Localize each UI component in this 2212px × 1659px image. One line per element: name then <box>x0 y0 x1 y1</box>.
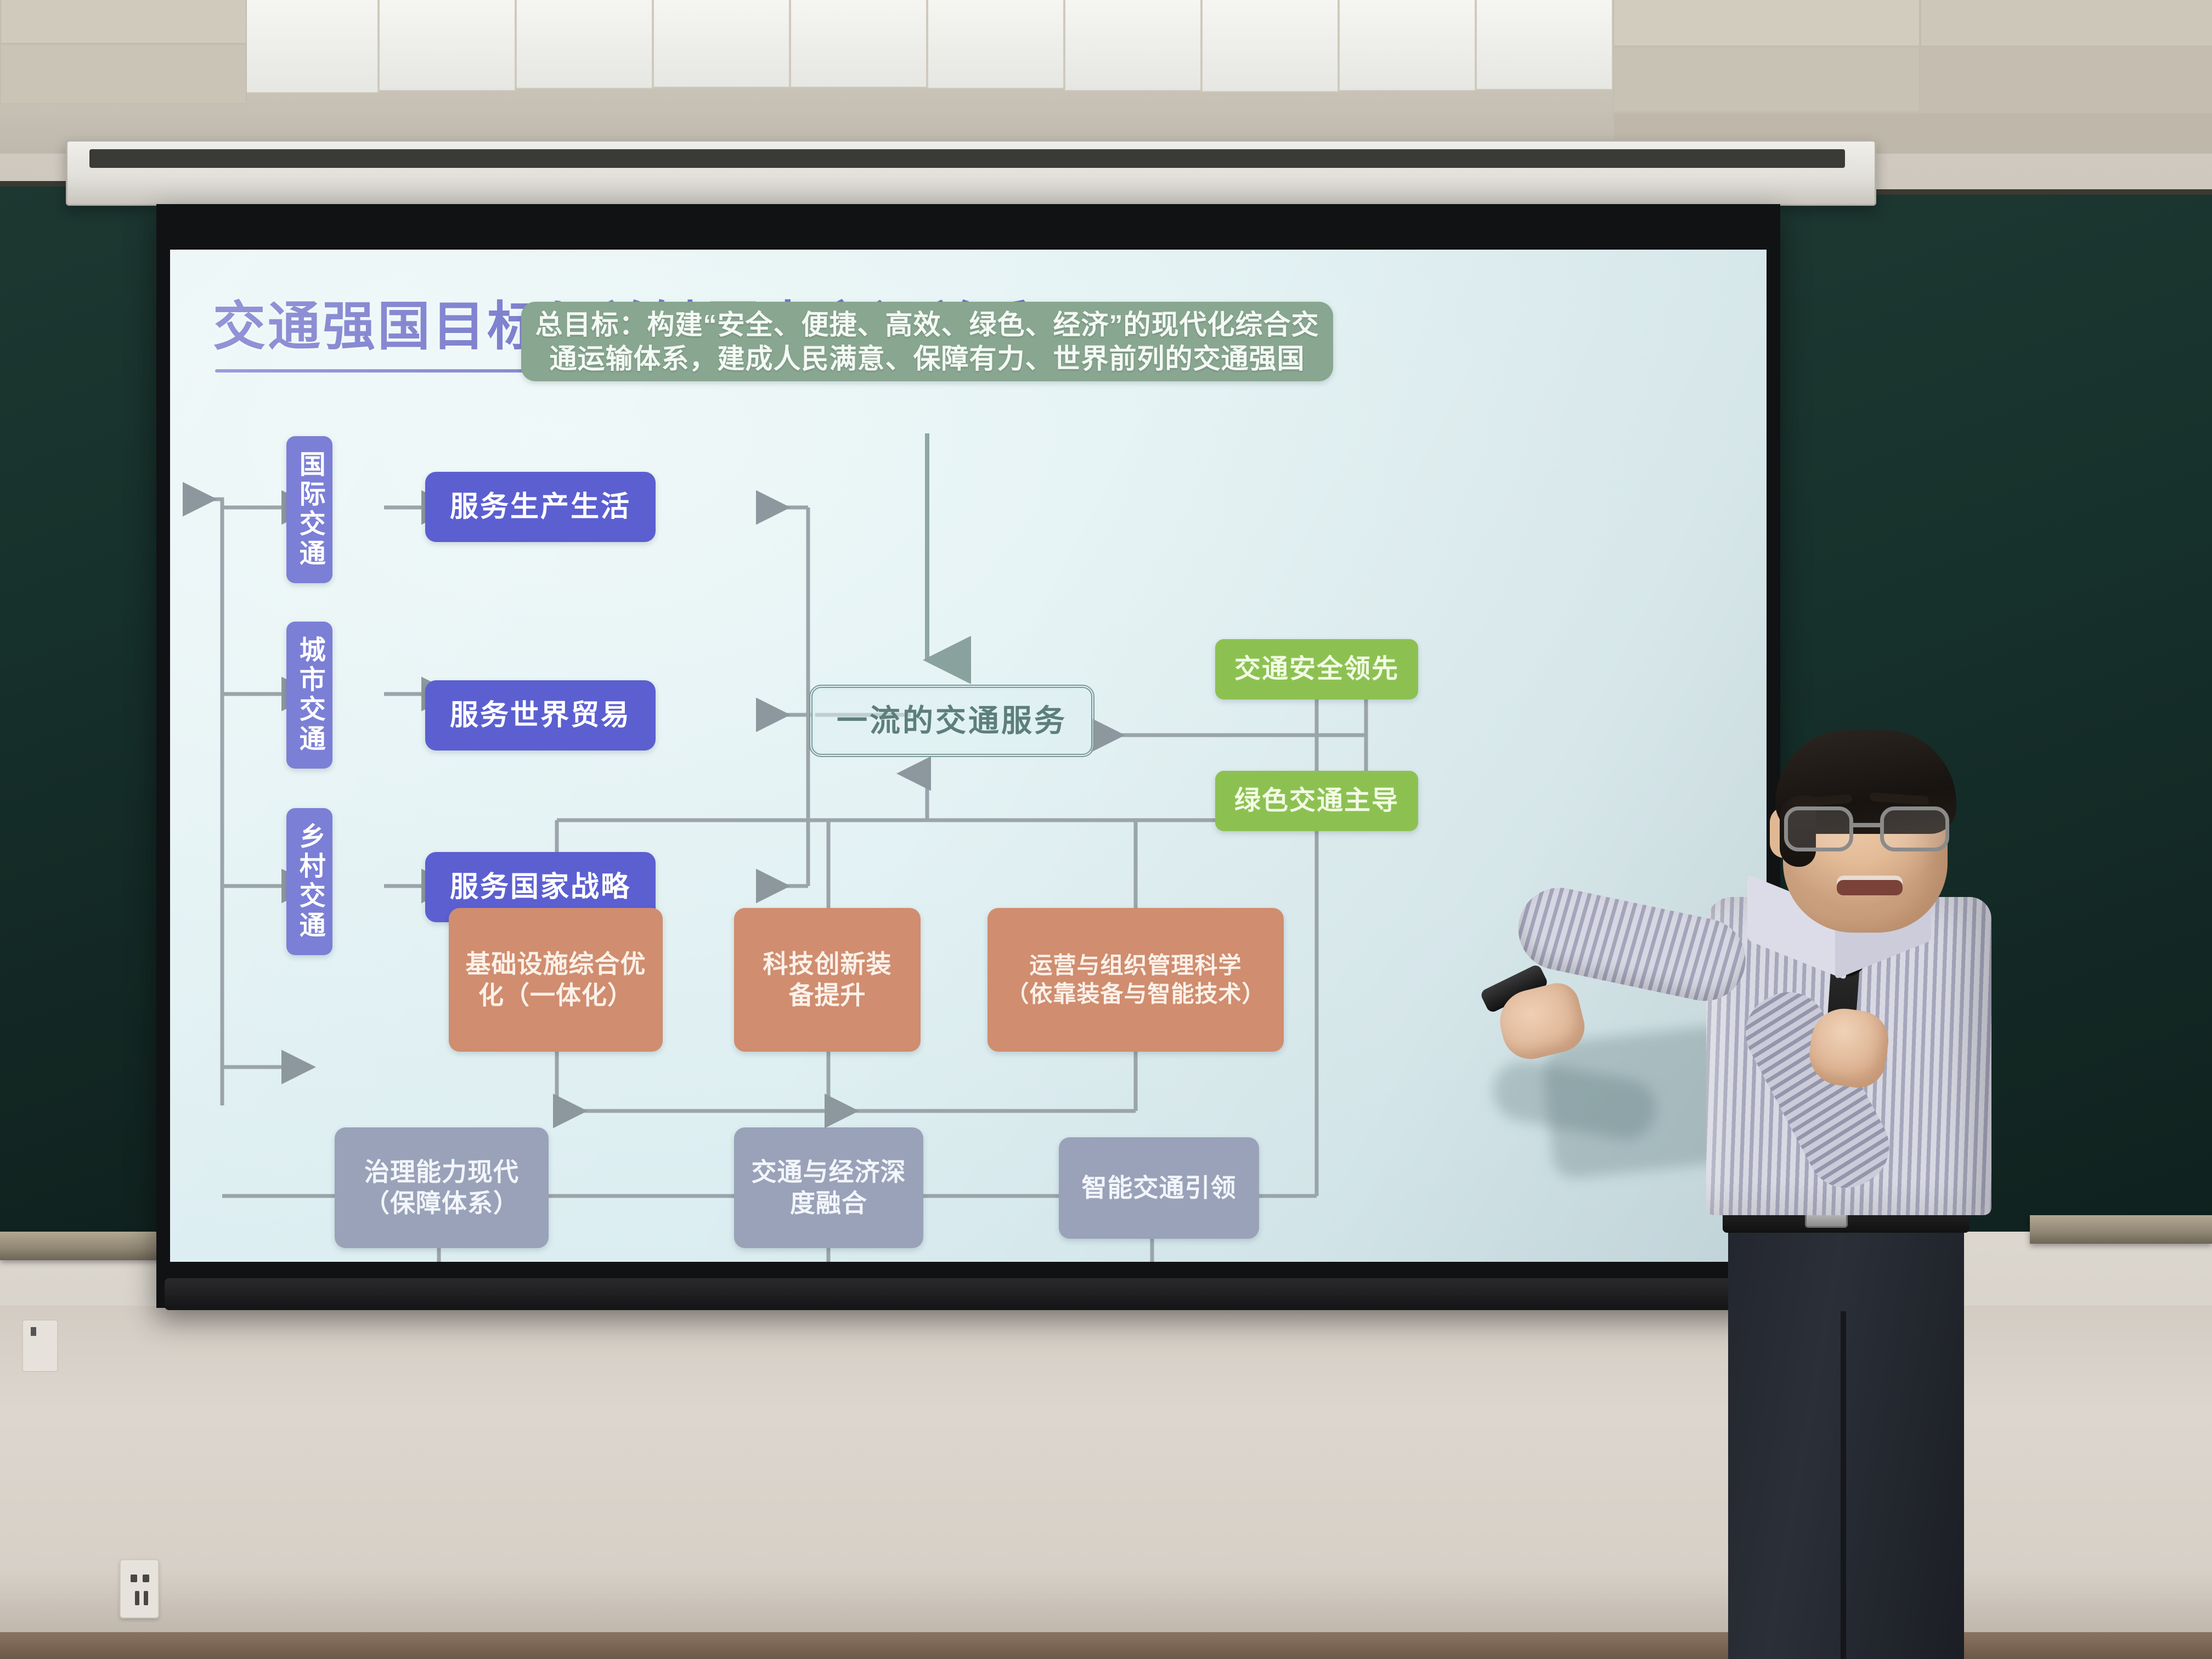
eyeglass-bridge <box>1852 823 1883 827</box>
ceiling-tile <box>1613 0 1920 47</box>
light-switch[interactable] <box>22 1319 58 1372</box>
ceiling-tile <box>1920 0 2212 47</box>
eyeglasses <box>1783 806 1950 854</box>
ceiling-tile <box>0 44 247 104</box>
goal-box: 总目标：构建“安全、便捷、高效、绿色、经济”的现代化综合交通运输体系，建成人民满… <box>521 302 1333 381</box>
orange-box-line2: 化（一体化） <box>478 980 633 1011</box>
core-node-first-class-transport-service: 一流的交通服务 <box>809 685 1094 757</box>
gray-box-governance-modernization: 治理能力现代 （保障体系） <box>335 1127 549 1248</box>
orange-box-technology-innovation-equipment: 科技创新装 备提升 <box>734 908 921 1052</box>
presenter-trousers <box>1728 1196 1964 1659</box>
vertical-label-urban: 城市交通 <box>286 622 332 769</box>
ceiling-light-panel <box>790 0 927 88</box>
ceiling-light-panel <box>241 0 379 93</box>
vertical-label-rural: 乡村交通 <box>286 808 332 955</box>
eyeglass-lens-left <box>1784 806 1853 851</box>
vertical-label-text: 国际交通 <box>293 450 326 569</box>
ceiling-light-panel <box>1339 0 1476 91</box>
presenter-mouth <box>1837 876 1903 895</box>
orange-box-infrastructure-optimization: 基础设施综合优 化（一体化） <box>449 908 663 1052</box>
ceiling-light-panel <box>1476 0 1613 90</box>
screenshot-root: 交通强国目标与关键因素之间关系 <box>0 0 2212 1659</box>
green-box-text: 绿色交通主导 <box>1234 785 1399 817</box>
ceiling-light-panel <box>379 0 516 91</box>
chalk-rail-right <box>2030 1215 2212 1244</box>
eyeglass-lens-right <box>1880 806 1949 851</box>
gray-box-line1: 智能交通引领 <box>1082 1172 1237 1204</box>
ceiling-light-panel <box>927 0 1064 89</box>
orange-box-operation-management-science: 运营与组织管理科学 （依靠装备与智能技术） <box>988 908 1284 1052</box>
projector-screen-bottom-bar <box>165 1278 1788 1310</box>
goal-box-text: 总目标：构建“安全、便捷、高效、绿色、经济”的现代化综合交通运输体系，建成人民满… <box>527 308 1328 376</box>
projector-screen-housing <box>66 140 1876 206</box>
ceiling-light-panel <box>1201 0 1339 92</box>
wall-outlet <box>120 1559 159 1618</box>
orange-box-line2: （依靠装备与智能技术） <box>1006 980 1265 1008</box>
ceiling-light-panel <box>516 0 653 89</box>
vertical-label-text: 乡村交通 <box>293 822 326 941</box>
ceiling-light-panel <box>653 0 790 88</box>
service-box-world-trade: 服务世界贸易 <box>425 680 656 751</box>
gray-box-intelligent-transport-leading: 智能交通引领 <box>1059 1137 1259 1239</box>
orange-box-line1: 基础设施综合优 <box>466 949 646 980</box>
service-box-text: 服务世界贸易 <box>450 698 631 733</box>
gray-box-line1: 交通与经济深 <box>752 1156 906 1188</box>
core-node-text: 一流的交通服务 <box>837 702 1067 740</box>
gray-box-line2: （保障体系） <box>364 1188 519 1219</box>
vertical-label-international: 国际交通 <box>286 436 332 583</box>
gray-box-line2: 度融合 <box>790 1188 867 1219</box>
service-box-text: 服务生产生活 <box>450 489 631 524</box>
ceiling-tile <box>1920 47 2212 112</box>
green-box-transport-safety-leading: 交通安全领先 <box>1215 639 1418 699</box>
orange-box-line2: 备提升 <box>789 980 866 1011</box>
ceiling-tile <box>0 0 247 44</box>
ceiling-light-panel <box>1064 0 1201 91</box>
screen-housing-slot <box>89 149 1845 168</box>
gray-box-line1: 治理能力现代 <box>364 1156 519 1188</box>
green-box-green-transport-dominant: 绿色交通主导 <box>1215 771 1418 831</box>
green-box-text: 交通安全领先 <box>1234 653 1399 686</box>
ceiling-tile <box>1613 47 1920 112</box>
vertical-label-text: 城市交通 <box>293 636 326 754</box>
orange-box-line1: 科技创新装 <box>763 949 892 980</box>
gray-box-transport-economy-integration: 交通与经济深 度融合 <box>734 1127 923 1248</box>
blackboard-left <box>0 181 181 1251</box>
service-box-text: 服务国家战略 <box>450 870 631 905</box>
chalk-rail-left <box>0 1232 181 1260</box>
orange-box-line1: 运营与组织管理科学 <box>1029 951 1242 980</box>
service-box-production-life: 服务生产生活 <box>425 472 656 542</box>
